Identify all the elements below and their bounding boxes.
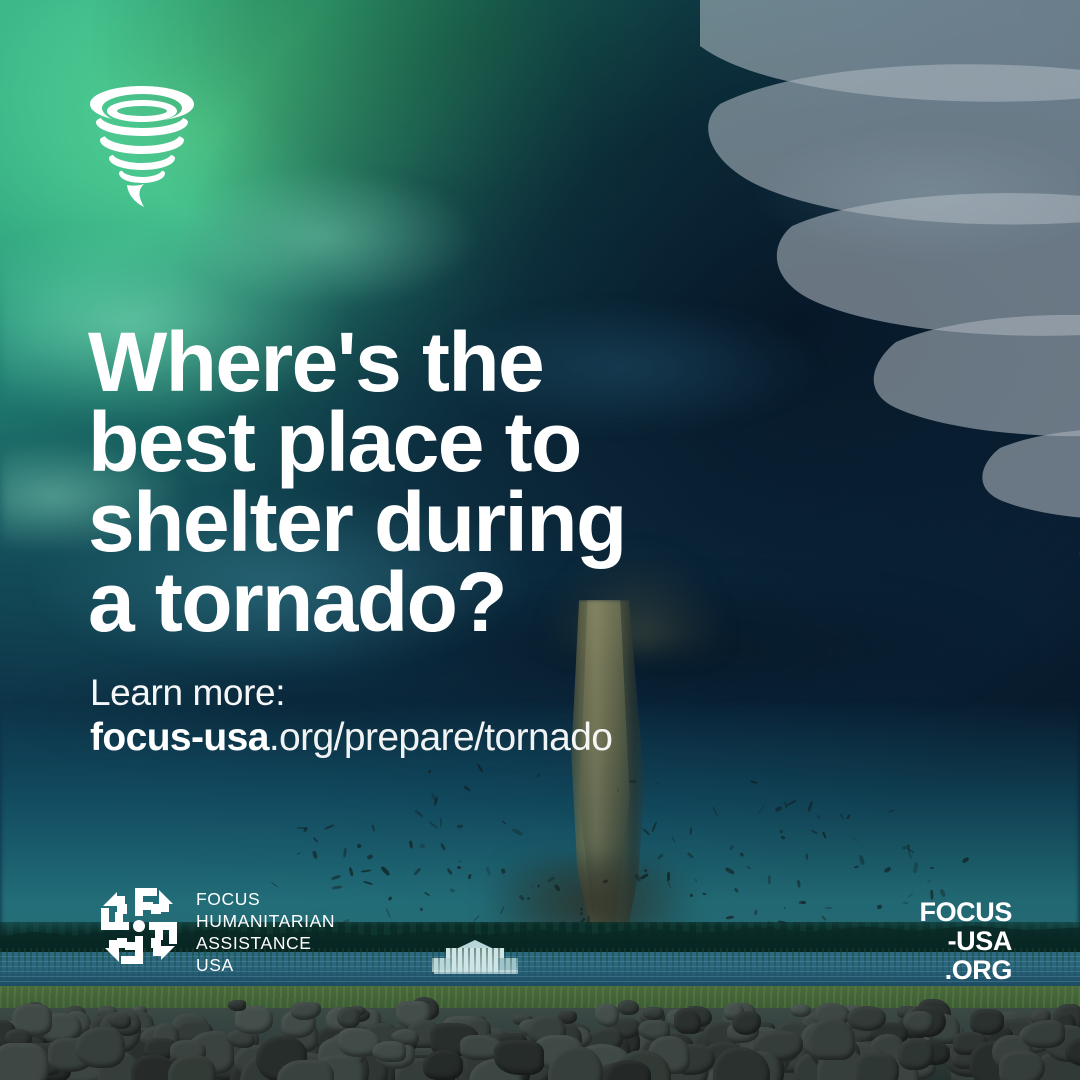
rock <box>970 1009 1004 1035</box>
rock <box>109 1014 131 1029</box>
headline-line-3: shelter during <box>88 482 728 562</box>
focus-humanitarian-logo: FOCUS HUMANITARIAN ASSISTANCE USA <box>100 884 335 976</box>
rock <box>618 1000 639 1015</box>
rock <box>75 1027 125 1068</box>
rock <box>674 1008 701 1034</box>
rock <box>643 1007 664 1020</box>
org-logo-text: FOCUS HUMANITARIAN ASSISTANCE USA <box>196 884 335 976</box>
rock <box>999 1051 1045 1080</box>
org-name-line-3: ASSISTANCE <box>196 932 335 954</box>
cta-url-domain: focus-usa <box>90 716 269 759</box>
debris-speck <box>695 878 696 882</box>
org-name-line-4: USA <box>196 954 335 976</box>
rock <box>898 1038 934 1070</box>
tornado-preparedness-poster: Where's the best place to shelter during… <box>0 0 1080 1080</box>
rock <box>337 1007 360 1028</box>
rock <box>228 1000 246 1011</box>
rock <box>372 1041 406 1062</box>
rock <box>606 1060 651 1080</box>
debris-speck <box>930 867 934 869</box>
debris-speck <box>629 780 637 783</box>
debris-speck <box>903 901 908 904</box>
debris-speck <box>457 865 461 869</box>
rock <box>847 1006 886 1031</box>
cta-url-link[interactable]: focus-usa.org/prepare/tornado <box>90 715 612 761</box>
call-to-action: Learn more: focus-usa.org/prepare/tornad… <box>90 672 612 761</box>
rock <box>790 1004 811 1017</box>
corner-url-block[interactable]: FOCUS -USA .ORG <box>919 898 1012 985</box>
focus-pinwheel-icon <box>100 884 178 968</box>
cta-url-path: .org/prepare/tornado <box>269 716 613 759</box>
rock <box>1022 1020 1065 1048</box>
debris-speck <box>456 824 462 828</box>
debris-speck <box>702 892 706 895</box>
rock <box>494 1040 544 1075</box>
org-name-line-1: FOCUS <box>196 888 335 910</box>
debris-speck <box>767 875 770 884</box>
learn-more-label: Learn more: <box>90 672 612 714</box>
rock <box>903 1011 934 1034</box>
debris-speck <box>527 896 530 899</box>
debris-speck <box>784 906 786 908</box>
rock <box>168 1055 216 1080</box>
page-title: Where's the best place to shelter during… <box>88 322 728 642</box>
headline-line-1: Where's the <box>88 322 728 402</box>
org-name-line-2: HUMANITARIAN <box>196 910 335 932</box>
debris-speck <box>806 853 808 859</box>
debris-speck <box>667 872 670 881</box>
headline-line-4: a tornado? <box>88 562 728 642</box>
headline-line-2: best place to <box>88 402 728 482</box>
debris-speck <box>537 884 540 888</box>
corner-url-line-3: .ORG <box>919 956 1012 985</box>
corner-url-line-2: -USA <box>919 927 1012 956</box>
rock <box>808 1018 855 1060</box>
rock <box>0 1043 49 1080</box>
rock <box>595 1004 619 1027</box>
vertical-tagline-wrap: Over 25 years of building disaster resil… <box>963 606 983 906</box>
rock <box>423 1050 463 1080</box>
tornado-icon <box>82 78 202 208</box>
rock <box>856 1053 899 1080</box>
